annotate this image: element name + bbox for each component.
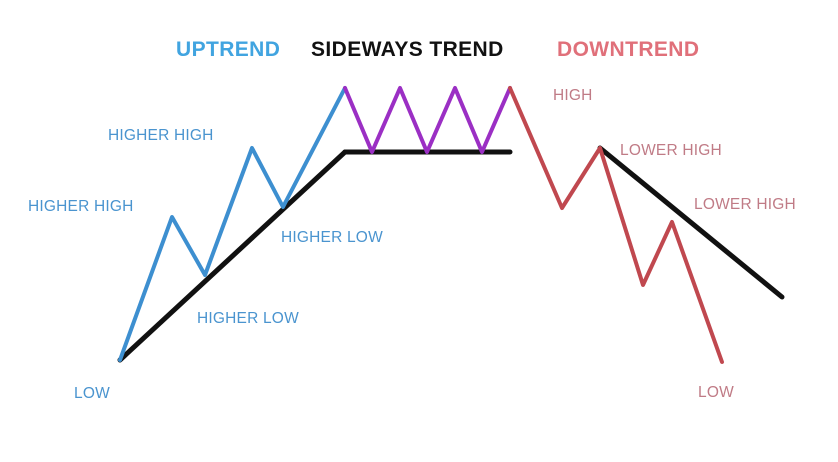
label-low-left: LOW xyxy=(74,385,110,403)
label-higher-high-2: HIGHER HIGH xyxy=(108,127,214,145)
label-high: HIGH xyxy=(553,87,593,105)
label-lower-high-2: LOWER HIGH xyxy=(694,196,796,214)
series-sideways-trend xyxy=(345,88,510,152)
uptrend-support-line xyxy=(120,152,345,360)
label-lower-high-1: LOWER HIGH xyxy=(620,142,722,160)
header-downtrend: DOWNTREND xyxy=(557,38,699,62)
header-uptrend: UPTREND xyxy=(176,38,280,62)
label-higher-high-1: HIGHER HIGH xyxy=(28,198,134,216)
label-low-right: LOW xyxy=(698,384,734,402)
header-sideways-trend: SIDEWAYS TREND xyxy=(311,38,504,62)
trend-diagram: UPTRENDSIDEWAYS TRENDDOWNTREND HIGHER HI… xyxy=(0,0,838,462)
label-higher-low-2: HIGHER LOW xyxy=(281,229,383,247)
label-higher-low-1: HIGHER LOW xyxy=(197,310,299,328)
